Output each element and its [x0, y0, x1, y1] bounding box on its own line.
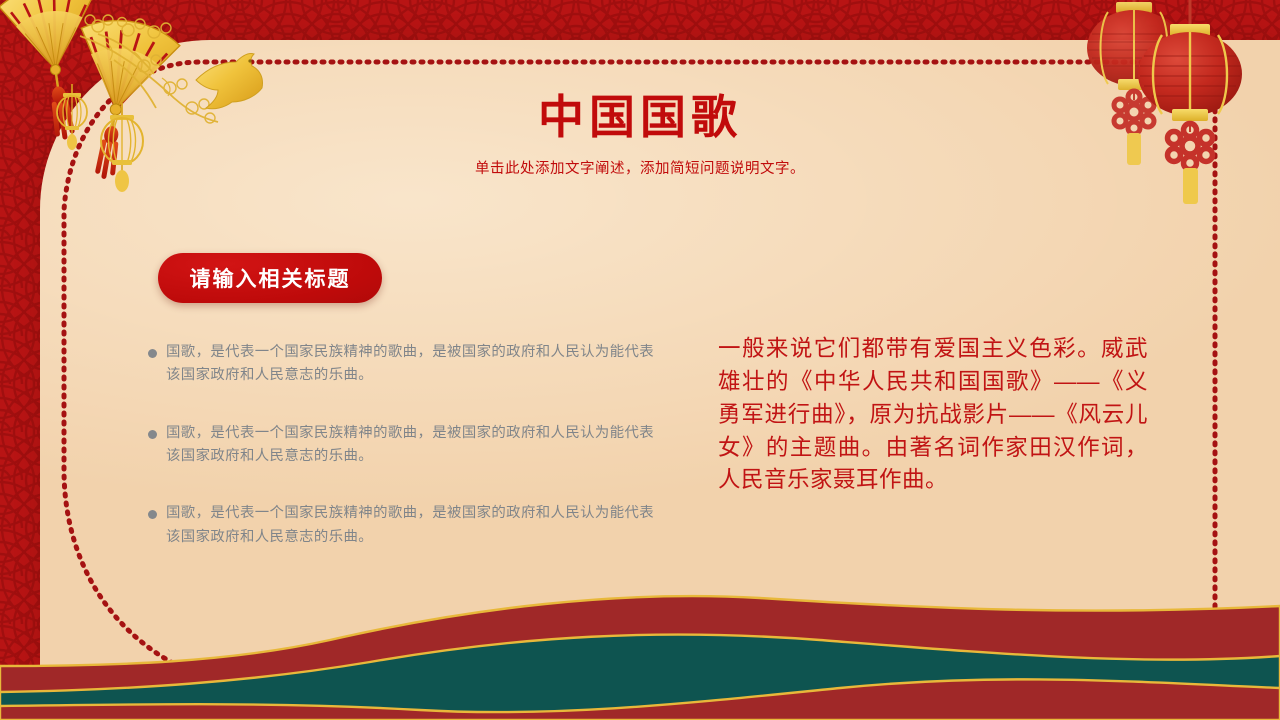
header-block: 中国国歌 单击此处添加文字阐述，添加简短问题说明文字。	[0, 92, 1280, 178]
list-item-text: 国歌，是代表一个国家民族精神的歌曲，是被国家的政府和人民认为能代表该国家政府和人…	[166, 502, 668, 549]
list-item-text: 国歌，是代表一个国家民族精神的歌曲，是被国家的政府和人民认为能代表该国家政府和人…	[166, 341, 668, 388]
page-title: 中国国歌	[0, 92, 1280, 143]
bullet-dot-icon	[148, 349, 157, 358]
list-item: 国歌，是代表一个国家民族精神的歌曲，是被国家的政府和人民认为能代表该国家政府和人…	[148, 502, 668, 549]
slide-canvas: 中国国歌 单击此处添加文字阐述，添加简短问题说明文字。 请输入相关标题 国歌，是…	[0, 0, 1280, 720]
bullet-dot-icon	[148, 430, 157, 439]
bullet-list: 国歌，是代表一个国家民族精神的歌曲，是被国家的政府和人民认为能代表该国家政府和人…	[148, 341, 668, 549]
list-item-text: 国歌，是代表一个国家民族精神的歌曲，是被国家的政府和人民认为能代表该国家政府和人…	[166, 422, 668, 469]
bullet-dot-icon	[148, 510, 157, 519]
page-subtitle: 单击此处添加文字阐述，添加简短问题说明文字。	[0, 157, 1280, 178]
body-paragraph: 一般来说它们都带有爱国主义色彩。威武雄壮的《中华人民共和国国歌》——《义勇军进行…	[718, 333, 1148, 497]
list-item: 国歌，是代表一个国家民族精神的歌曲，是被国家的政府和人民认为能代表该国家政府和人…	[148, 422, 668, 469]
section-title-button[interactable]: 请输入相关标题	[158, 253, 382, 303]
list-item: 国歌，是代表一个国家民族精神的歌曲，是被国家的政府和人民认为能代表该国家政府和人…	[148, 341, 668, 388]
